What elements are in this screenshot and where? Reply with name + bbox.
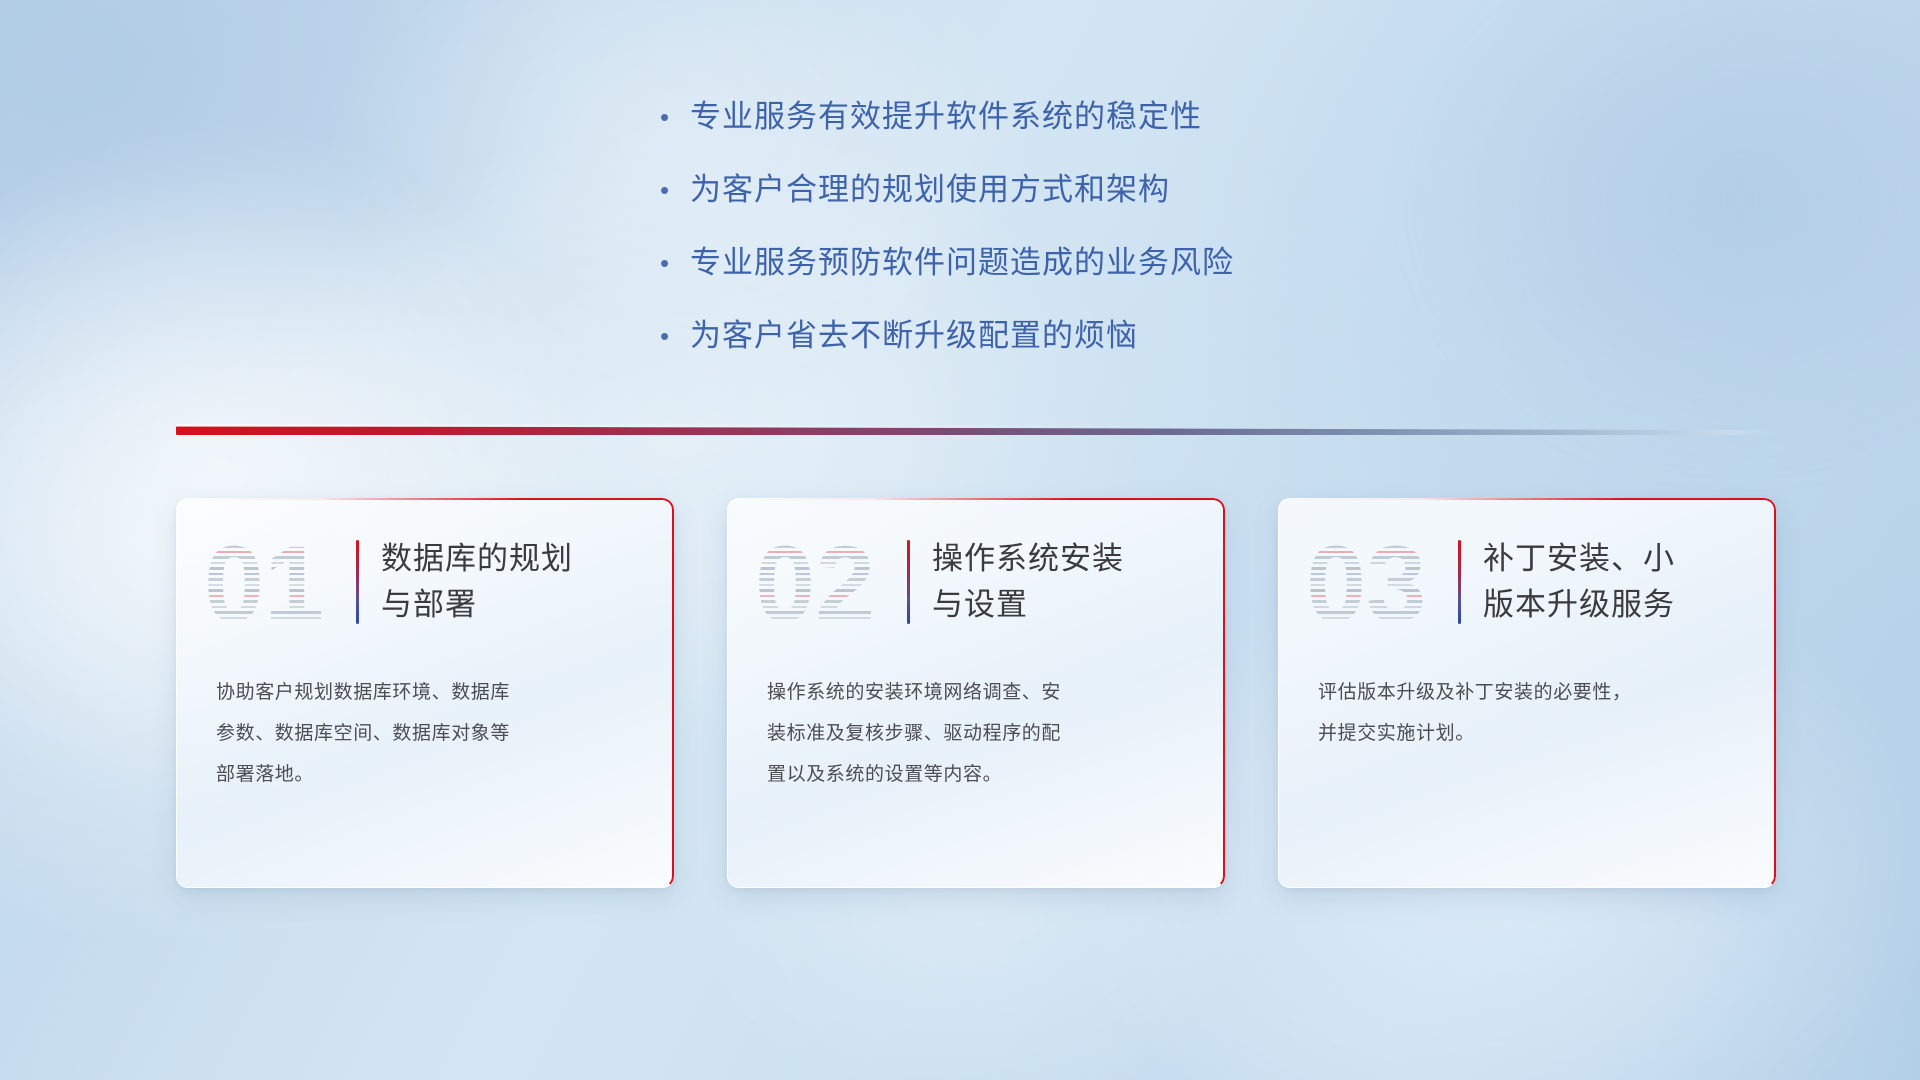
divider-highlight: [176, 424, 1776, 427]
card-body: 操作系统的安装环境网络调查、安 装标准及复核步骤、驱动程序的配 置以及系统的设置…: [727, 648, 1225, 795]
section-divider: [176, 420, 1776, 442]
card-header: 01: [176, 498, 674, 648]
bullet-list: • 专业服务有效提升软件系统的稳定性 • 为客户合理的规划使用方式和架构 • 专…: [660, 96, 1420, 388]
glitch-number-graphic: 01: [202, 527, 352, 637]
card-number-03: 03: [1304, 527, 1454, 637]
list-item: • 专业服务有效提升软件系统的稳定性: [660, 96, 1420, 138]
card-title: 操作系统安装 与设置: [932, 536, 1199, 628]
card-body: 评估版本升级及补丁安装的必要性， 并提交实施计划。: [1278, 648, 1776, 754]
bullet-text: 为客户省去不断升级配置的烦恼: [690, 315, 1138, 357]
bullet-marker-icon: •: [660, 169, 690, 211]
card-title-line1: 数据库的规划: [381, 536, 648, 582]
bullet-text: 为客户合理的规划使用方式和架构: [690, 169, 1170, 211]
card-title-line2: 版本升级服务: [1483, 582, 1750, 628]
card-body-line1: 协助客户规划数据库环境、数据库: [216, 672, 634, 713]
service-card-01[interactable]: 01: [176, 498, 674, 888]
card-number-02: 02: [753, 527, 903, 637]
bullet-text: 专业服务预防软件问题造成的业务风险: [690, 242, 1234, 284]
background-glow-top-right: [1420, 0, 1920, 460]
card-title: 数据库的规划 与部署: [381, 536, 648, 628]
card-body-line3: 置以及系统的设置等内容。: [767, 754, 1185, 795]
glitch-number-graphic: 03: [1304, 527, 1454, 637]
card-title-line1: 补丁安装、小: [1483, 536, 1750, 582]
list-item: • 为客户省去不断升级配置的烦恼: [660, 315, 1420, 357]
bullet-marker-icon: •: [660, 242, 690, 284]
card-title-line2: 与设置: [932, 582, 1199, 628]
card-body-line2: 并提交实施计划。: [1318, 713, 1736, 754]
service-card-03[interactable]: 03: [1278, 498, 1776, 888]
card-rule: [1458, 540, 1461, 624]
glitch-number-graphic: 02: [753, 527, 903, 637]
list-item: • 为客户合理的规划使用方式和架构: [660, 169, 1420, 211]
list-item: • 专业服务预防软件问题造成的业务风险: [660, 242, 1420, 284]
card-body: 协助客户规划数据库环境、数据库 参数、数据库空间、数据库对象等 部署落地。: [176, 648, 674, 795]
card-header: 03: [1278, 498, 1776, 648]
card-title-line1: 操作系统安装: [932, 536, 1199, 582]
card-body-line1: 操作系统的安装环境网络调查、安: [767, 672, 1185, 713]
card-body-line2: 装标准及复核步骤、驱动程序的配: [767, 713, 1185, 754]
divider-bar: [176, 426, 1776, 435]
card-body-line1: 评估版本升级及补丁安装的必要性，: [1318, 672, 1736, 713]
card-body-line2: 参数、数据库空间、数据库对象等: [216, 713, 634, 754]
card-body-line3: 部署落地。: [216, 754, 634, 795]
service-card-02[interactable]: 02: [727, 498, 1225, 888]
card-number-01: 01: [202, 527, 352, 637]
card-rule: [907, 540, 910, 624]
card-title: 补丁安装、小 版本升级服务: [1483, 536, 1750, 628]
card-title-line2: 与部署: [381, 582, 648, 628]
bullet-text: 专业服务有效提升软件系统的稳定性: [690, 96, 1202, 138]
card-rule: [356, 540, 359, 624]
bullet-marker-icon: •: [660, 315, 690, 357]
card-header: 02: [727, 498, 1225, 648]
slide-canvas: • 专业服务有效提升软件系统的稳定性 • 为客户合理的规划使用方式和架构 • 专…: [0, 0, 1920, 1080]
bullet-marker-icon: •: [660, 96, 690, 138]
card-row: 01: [176, 498, 1776, 888]
